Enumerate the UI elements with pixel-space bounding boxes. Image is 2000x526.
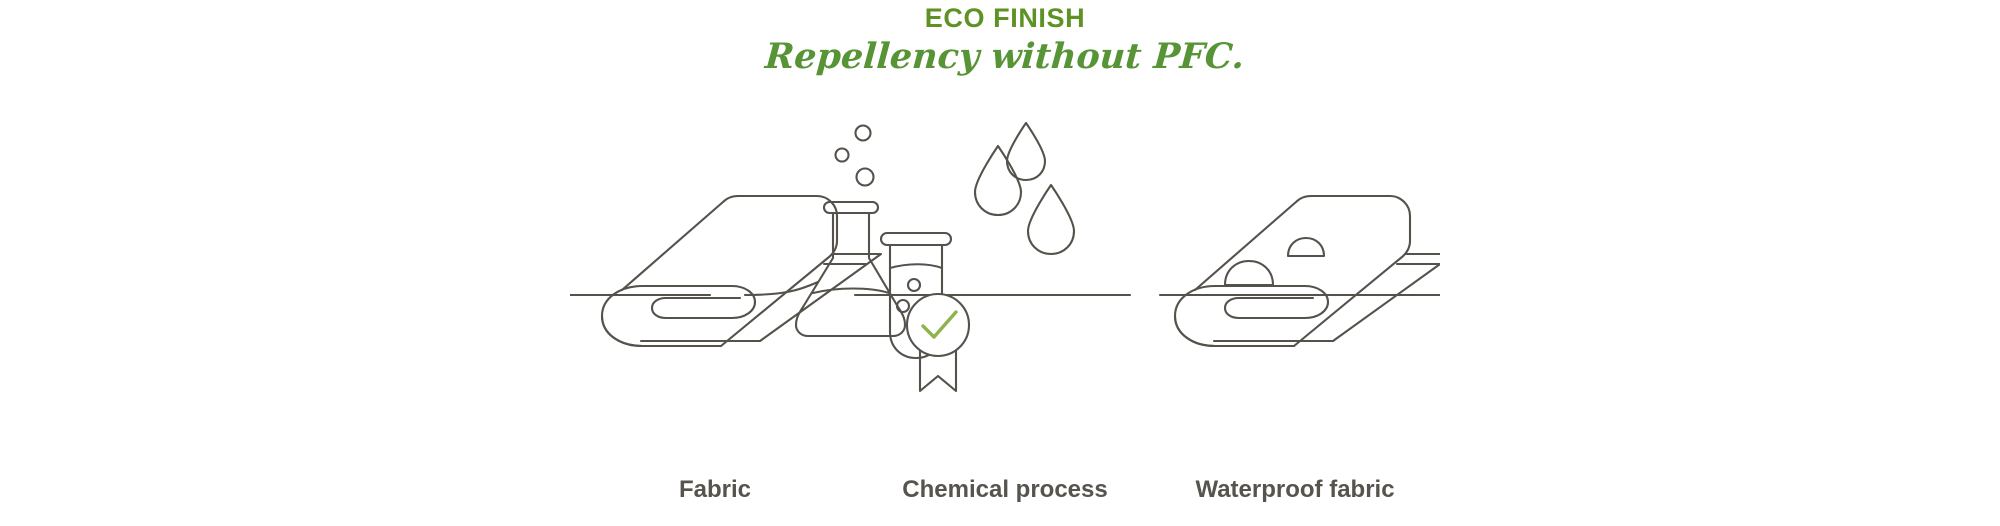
wp-fabric-top-sheet: [1195, 196, 1410, 346]
step-caption-row: Fabric Chemical process Waterproof fabri…: [570, 478, 1440, 518]
water-bead-1: [1225, 261, 1273, 285]
fabric-layer-wedge: [760, 254, 881, 341]
wp-fabric-layer-wedge: [1333, 254, 1440, 341]
process-illustration: [570, 110, 1440, 440]
fabric-roll-outer: [602, 316, 642, 346]
infographic-canvas: ECO FINISH Repellency without PFC.: [0, 0, 2000, 526]
wp-fabric-roll-outer: [1175, 316, 1215, 346]
heading-block: ECO FINISH Repellency without PFC.: [570, 0, 1440, 74]
flask-bubble-1: [856, 126, 871, 141]
tube-bubble-2: [897, 300, 909, 312]
water-bead-2: [1288, 238, 1324, 256]
connector-line-curve: [745, 282, 818, 295]
page-subtitle: Repellency without PFC.: [569, 32, 1442, 74]
water-drop-falling-3: [1028, 185, 1074, 254]
step-label-fabric: Fabric: [570, 478, 860, 502]
step-label-waterproof-fabric: Waterproof fabric: [1150, 478, 1440, 502]
step-label-chemical-process: Chemical process: [860, 478, 1150, 502]
folded-fabric-icon: [602, 196, 881, 346]
flask-body: [796, 213, 905, 336]
water-drop-falling-2: [975, 146, 1021, 215]
test-tube-rim: [881, 233, 951, 245]
process-illustration-svg: [570, 110, 1440, 440]
fabric-top-sheet: [622, 196, 837, 346]
badge-circle: [907, 294, 969, 356]
flask-bubble-2: [836, 149, 849, 162]
flask-test-tube-icon: [796, 126, 969, 392]
fabric-with-water-drops-icon: [975, 123, 1440, 346]
page-title: ECO FINISH: [570, 0, 1440, 32]
test-tube-liquid-level: [890, 264, 942, 268]
flask-bubble-3: [857, 169, 874, 186]
tube-bubble-1: [908, 279, 920, 291]
